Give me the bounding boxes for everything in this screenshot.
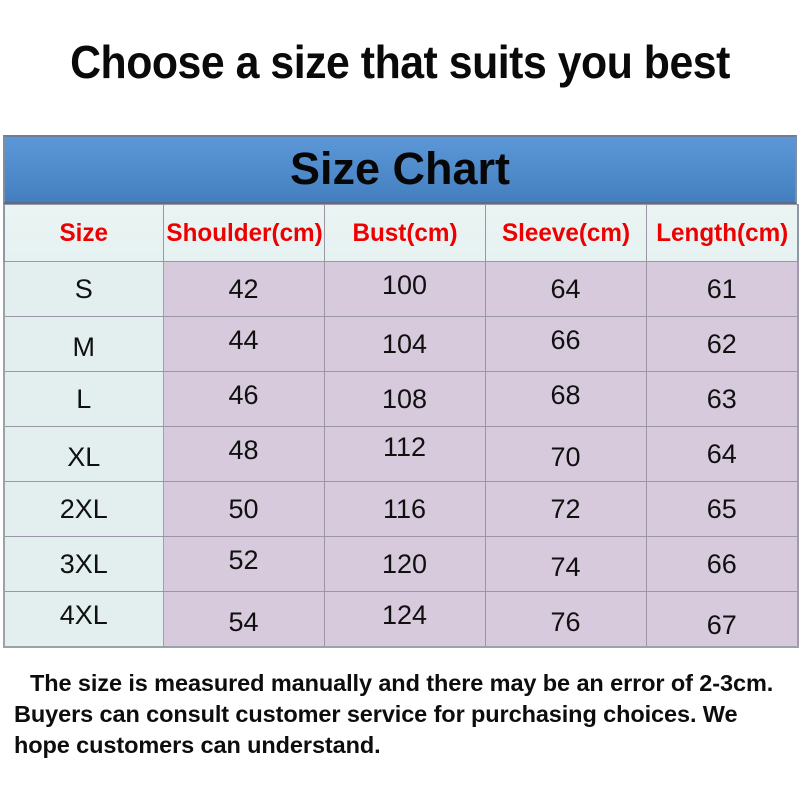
cell-length: 63 [646,372,798,427]
cell-value: 50 [164,495,324,523]
cell-value: M [5,333,163,361]
cell-shoulder: 54 [163,592,324,648]
size-chart-banner-title: Size Chart [290,146,510,191]
table-header-row: Size Shoulder(cm) Bust(cm) Sleeve(cm) Le… [4,205,798,262]
cell-value: 52 [164,546,324,574]
size-chart-page: Choose a size that suits you best Size C… [0,0,800,800]
cell-length: 61 [646,262,798,317]
cell-size: M [4,317,163,372]
cell-value: XL [5,443,163,471]
cell-value: S [5,275,163,303]
cell-length: 66 [646,537,798,592]
cell-value: 54 [164,608,324,636]
column-header-sleeve: Sleeve(cm) [485,205,646,262]
cell-sleeve: 74 [485,537,646,592]
cell-length: 62 [646,317,798,372]
cell-value: 124 [325,601,485,629]
cell-shoulder: 44 [163,317,324,372]
cell-value: 66 [486,326,646,354]
table-row: XL 48 112 70 64 [4,427,798,482]
cell-sleeve: 64 [485,262,646,317]
column-header-label: Bust(cm) [327,220,482,246]
table-row: 3XL 52 120 74 66 [4,537,798,592]
column-header-label: Sleeve(cm) [488,220,643,246]
cell-value: 67 [647,611,798,639]
cell-value: 44 [164,326,324,354]
cell-value: 74 [486,553,646,581]
cell-value: 76 [486,608,646,636]
measurement-disclaimer: The size is measured manually and there … [14,668,792,761]
cell-value: 64 [486,275,646,303]
cell-size: S [4,262,163,317]
cell-sleeve: 68 [485,372,646,427]
cell-value: 104 [325,330,485,358]
cell-value: 108 [325,385,485,413]
cell-bust: 100 [324,262,485,317]
column-header-shoulder: Shoulder(cm) [163,205,324,262]
cell-size: XL [4,427,163,482]
cell-value: 116 [325,495,485,523]
cell-sleeve: 72 [485,482,646,537]
cell-length: 67 [646,592,798,648]
cell-bust: 112 [324,427,485,482]
column-header-label: Length(cm) [649,220,795,246]
cell-shoulder: 52 [163,537,324,592]
cell-value: 48 [164,436,324,464]
cell-value: 42 [164,275,324,303]
cell-bust: 116 [324,482,485,537]
column-header-label: Size [7,220,160,246]
cell-length: 64 [646,427,798,482]
table-row: 2XL 50 116 72 65 [4,482,798,537]
cell-shoulder: 50 [163,482,324,537]
cell-bust: 124 [324,592,485,648]
cell-size: 2XL [4,482,163,537]
cell-size: L [4,372,163,427]
cell-size: 4XL [4,592,163,648]
cell-shoulder: 42 [163,262,324,317]
cell-value: 72 [486,495,646,523]
column-header-length: Length(cm) [646,205,798,262]
size-chart-banner: Size Chart [3,135,797,204]
cell-value: 64 [647,440,798,468]
size-chart-table: Size Shoulder(cm) Bust(cm) Sleeve(cm) Le… [3,204,799,648]
cell-value: 61 [647,275,798,303]
table-row: M 44 104 66 62 [4,317,798,372]
size-chart-table-wrapper: Size Chart Size Shoulder(cm) [3,135,797,648]
column-header-bust: Bust(cm) [324,205,485,262]
cell-value: 70 [486,443,646,471]
cell-bust: 104 [324,317,485,372]
cell-bust: 120 [324,537,485,592]
cell-value: 65 [647,495,798,523]
cell-value: 100 [325,271,485,299]
cell-value: 62 [647,330,798,358]
table-row: 4XL 54 124 76 67 [4,592,798,648]
cell-shoulder: 48 [163,427,324,482]
cell-bust: 108 [324,372,485,427]
cell-value: L [5,385,163,413]
column-header-label: Shoulder(cm) [166,220,321,246]
cell-value: 120 [325,550,485,578]
cell-value: 63 [647,385,798,413]
cell-value: 112 [325,433,485,461]
cell-value: 2XL [5,495,163,523]
cell-sleeve: 76 [485,592,646,648]
table-row: L 46 108 68 63 [4,372,798,427]
cell-size: 3XL [4,537,163,592]
cell-sleeve: 70 [485,427,646,482]
table-row: S 42 100 64 61 [4,262,798,317]
page-title: Choose a size that suits you best [28,36,772,88]
cell-length: 65 [646,482,798,537]
cell-shoulder: 46 [163,372,324,427]
cell-value: 4XL [5,601,163,629]
cell-value: 3XL [5,550,163,578]
cell-value: 68 [486,381,646,409]
column-header-size: Size [4,205,163,262]
cell-value: 66 [647,550,798,578]
cell-sleeve: 66 [485,317,646,372]
cell-value: 46 [164,381,324,409]
